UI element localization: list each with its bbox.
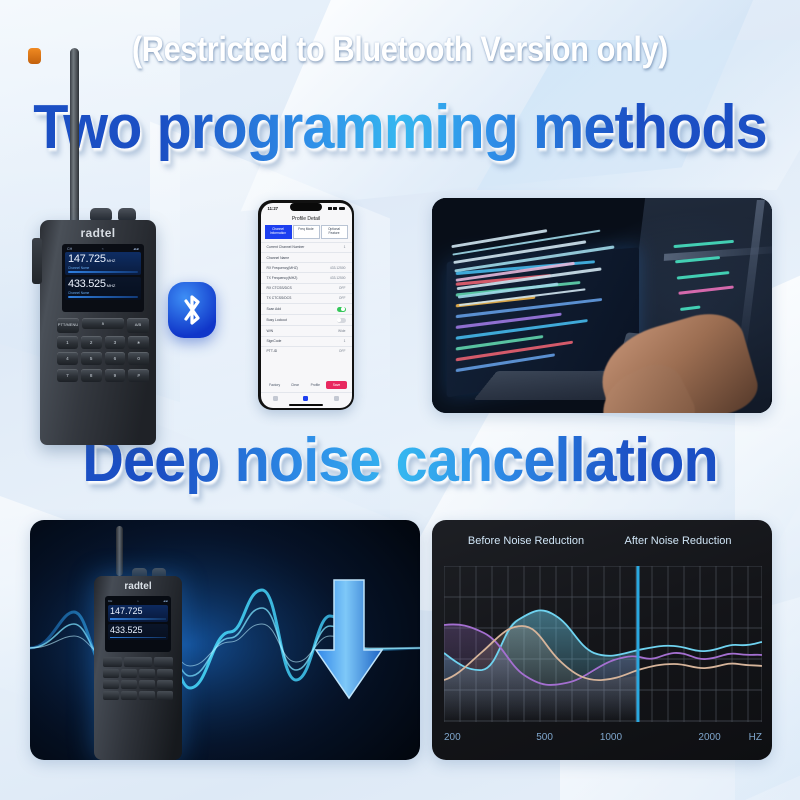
tabbar-icon-list[interactable] (273, 396, 278, 401)
lcd-vfo-label: CH (67, 247, 72, 251)
save-button[interactable]: Save (326, 381, 346, 389)
row-value: 1 (344, 339, 346, 343)
radio-keypad-bottom (103, 657, 173, 700)
list-item[interactable]: RX Frequency(MHZ) 433.12500 (261, 262, 352, 272)
radio-lcd-display: CH ⌁ ▰▰ 147.725MHZ Channel Name 433.525M… (62, 244, 144, 312)
key-5[interactable]: 5 (81, 352, 102, 365)
key-1[interactable]: 1 (57, 336, 78, 349)
list-item[interactable]: Scan Add (261, 303, 352, 314)
freq-b-bottom: 433.525 (110, 626, 166, 635)
list-item[interactable]: RX CTCSS/DCS OFF (261, 283, 352, 293)
noise-cancellation-photo-panel: radtel CH⌁▰▰ 147.725 433.525 (30, 520, 420, 760)
freq-a-unit: MHZ (107, 258, 116, 263)
freq-a-bottom: 147.725 (110, 607, 166, 616)
list-item[interactable]: PTT-ID OFF (261, 346, 352, 356)
key-ab-exit[interactable]: A/B (127, 318, 149, 333)
key-0[interactable]: 0 (128, 352, 149, 365)
row-value: Wide (338, 329, 346, 333)
radio-body: radtel CH ⌁ ▰▰ 147.725MHZ Channel Name 4… (40, 220, 156, 445)
row-label: W/N (267, 329, 274, 333)
freq-block-b: 433.525MHZ Channel Name (65, 277, 141, 300)
tab-channel-information[interactable]: Channel Information (265, 225, 292, 239)
freq-b-value: 433.525 (68, 278, 106, 290)
row-value: 433.12500 (330, 266, 346, 270)
bluetooth-icon (168, 282, 216, 338)
freq-a-sub: Channel Name (68, 266, 138, 270)
freq-b-sub: Channel Name (68, 291, 138, 295)
tab-optional-feature[interactable]: Optional Feature (321, 225, 348, 239)
noise-reduction-chart-panel: Before Noise Reduction After Noise Reduc… (432, 520, 772, 760)
row-label: Current Channel Number (267, 245, 305, 249)
row-value: 433.12500 (330, 276, 346, 280)
list-item[interactable]: W/N Wide (261, 325, 352, 335)
home-indicator (289, 404, 323, 406)
phone-bottom-tabbar (261, 392, 352, 403)
orange-side-button[interactable] (28, 48, 41, 64)
radio-lcd-bottom: CH⌁▰▰ 147.725 433.525 (105, 596, 171, 652)
row-value: OFF (339, 349, 346, 353)
tick-1000: 1000 (600, 732, 622, 743)
antenna (70, 48, 79, 228)
key-up[interactable]: ∧ (82, 318, 124, 329)
freq-b-unit: MHZ (107, 283, 116, 288)
scan-add-toggle[interactable] (337, 307, 346, 312)
status-time: 11:27 (268, 206, 278, 211)
row-label: TX Frequency(MHZ) (267, 276, 298, 280)
key-6[interactable]: 6 (105, 352, 126, 365)
row-label: Scan Add (267, 307, 282, 311)
radio-keypad: PTT/MENU ∧ A/B 1 2 3 ∗ 4 5 6 0 7 (57, 318, 149, 385)
phone-mockup: 11:27 Profile Detail Channel Information… (258, 200, 354, 410)
row-label: RX Frequency(MHZ) (267, 266, 298, 270)
key-hash[interactable]: # (128, 369, 149, 382)
key-8[interactable]: 8 (81, 369, 102, 382)
row-value: OFF (339, 296, 346, 300)
phone-screen: 11:27 Profile Detail Channel Information… (261, 203, 352, 408)
busy-lockout-toggle[interactable] (337, 318, 346, 323)
lcd-antenna-icon: ⌁ (102, 247, 104, 251)
antenna-bottom (116, 526, 123, 576)
key-3[interactable]: 3 (105, 336, 126, 349)
tabbar-icon-settings[interactable] (334, 396, 339, 401)
ptt-button[interactable] (32, 238, 42, 284)
coding-photo (432, 198, 772, 413)
row-label: SignCode (267, 339, 282, 343)
radio-body-bottom: radtel CH⌁▰▰ 147.725 433.525 (94, 576, 182, 760)
signal-icon (328, 207, 332, 210)
radio-device-bottom: radtel CH⌁▰▰ 147.725 433.525 (86, 526, 190, 760)
freq-a-value: 147.725 (68, 253, 106, 265)
list-item[interactable]: Current Channel Number 1 (261, 242, 352, 252)
floating-config-overlay (673, 234, 748, 318)
axis-unit-hz: HZ (749, 732, 762, 743)
factory-button[interactable]: Factory (266, 383, 284, 387)
list-item[interactable]: TX CTCSS/DCS OFF (261, 293, 352, 303)
list-item[interactable]: SignCode 1 (261, 336, 352, 346)
phone-tab-group: Channel Information Freq Mode Optional F… (261, 225, 352, 242)
row-label: RX CTCSS/DCS (267, 286, 292, 290)
freq-block-a: 147.725MHZ Channel Name (65, 252, 141, 275)
radio-brand-bottom: radtel (94, 576, 182, 592)
phone-notch (290, 203, 322, 211)
label-after-noise-reduction: After Noise Reduction (602, 535, 754, 547)
row-label: Channel Name (267, 256, 290, 260)
key-menu[interactable]: PTT/MENU (57, 318, 79, 333)
down-arrow-icon (312, 578, 386, 702)
wifi-icon (333, 207, 337, 210)
key-7[interactable]: 7 (57, 369, 78, 382)
coding-photo-panel (432, 198, 772, 413)
row-label: PTT-ID (267, 349, 278, 353)
phone-page-title: Profile Detail (261, 212, 352, 225)
tabbar-icon-grid[interactable] (303, 396, 308, 401)
radio-device-top: radtel CH ⌁ ▰▰ 147.725MHZ Channel Name 4… (28, 48, 166, 448)
key-star[interactable]: ∗ (128, 336, 149, 349)
profile-button[interactable]: Profile (306, 383, 324, 387)
key-9[interactable]: 9 (105, 369, 126, 382)
key-4[interactable]: 4 (57, 352, 78, 365)
row-value: 1 (344, 245, 346, 249)
phone-settings-list: Current Channel Number 1 Channel Name RX… (261, 242, 352, 378)
row-value: OFF (339, 286, 346, 290)
list-item[interactable]: TX Frequency(MHZ) 433.12500 (261, 272, 352, 282)
tick-200: 200 (444, 732, 461, 743)
noise-reduction-plot (444, 566, 762, 722)
battery-icon (339, 207, 345, 210)
list-item[interactable]: Busy Lockout (261, 314, 352, 325)
phone-action-buttons: Factory Clear Profile Save (261, 378, 352, 392)
list-item[interactable]: Channel Name (261, 252, 352, 262)
chart-axis-labels: 200 500 1000 2000 HZ (444, 732, 762, 746)
key-2[interactable]: 2 (81, 336, 102, 349)
key-menu-label: PTT/MENU (58, 323, 78, 328)
tab-freq-mode[interactable]: Freq Mode (293, 225, 320, 239)
key-ab-label: A/B (135, 323, 141, 328)
tick-500: 500 (536, 732, 553, 743)
row-label: Busy Lockout (267, 318, 287, 322)
tick-2000: 2000 (698, 732, 720, 743)
radio-brand-label: radtel (40, 226, 156, 240)
label-before-noise-reduction: Before Noise Reduction (450, 535, 602, 547)
lcd-battery-icon: ▰▰ (133, 247, 139, 251)
clear-button[interactable]: Clear (286, 383, 304, 387)
chart-legend: Before Noise Reduction After Noise Reduc… (432, 520, 772, 553)
row-label: TX CTCSS/DCS (267, 296, 292, 300)
